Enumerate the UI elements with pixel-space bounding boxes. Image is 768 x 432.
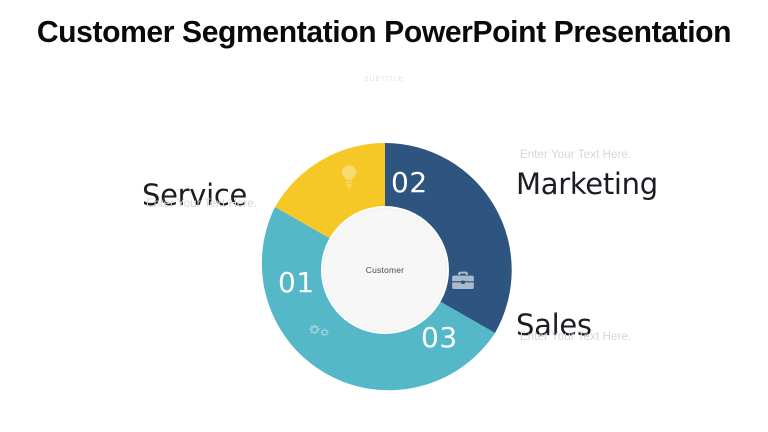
slide-canvas: Customer Segmentation PowerPoint Present… [0, 0, 768, 432]
briefcase-icon [450, 268, 476, 294]
segment-number-03: 03 [421, 321, 458, 354]
page-title: Customer Segmentation PowerPoint Present… [12, 14, 757, 50]
label-placeholder-sales: Enter Your Text Here. [520, 331, 716, 343]
lightbulb-icon [336, 163, 362, 189]
segment-number-02: 02 [391, 166, 428, 199]
label-heading-marketing: Marketing [516, 167, 648, 201]
label-placeholder-service: Enter Your Text Here. [146, 198, 312, 210]
page-subtitle: SUBTITLE [0, 76, 768, 83]
donut-center-label: Customer [366, 265, 404, 275]
segment-number-01: 01 [278, 266, 315, 299]
donut-center-hub: Customer [323, 208, 447, 332]
gears-icon [303, 318, 329, 344]
label-placeholder-marketing: Enter Your Text Here. [520, 149, 648, 161]
label-group-service[interactable]: Service Enter Your Text Here. [142, 178, 312, 210]
label-group-sales[interactable]: Sales Enter Your Text Here. [516, 308, 716, 343]
